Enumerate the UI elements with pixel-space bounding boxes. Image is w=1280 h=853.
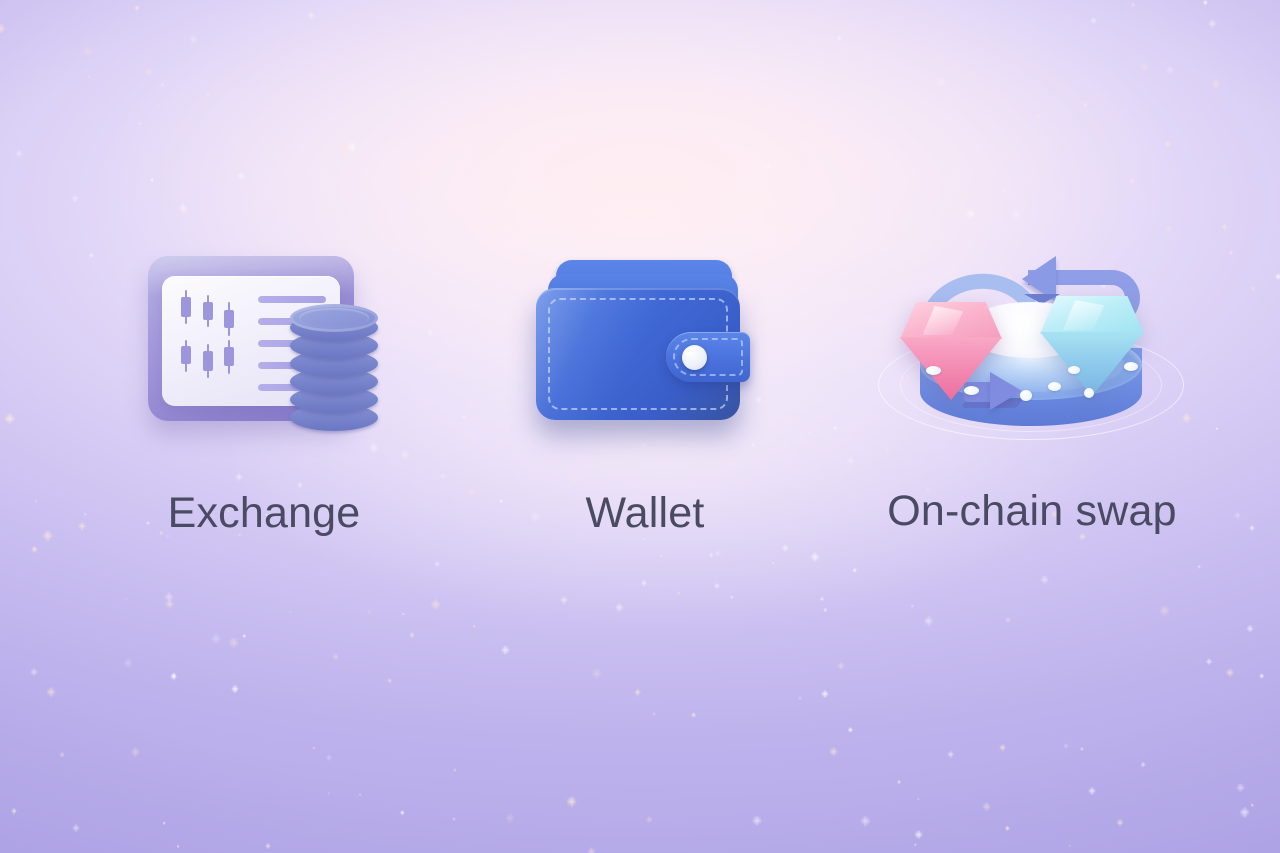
- item-label-wallet: Wallet: [585, 492, 704, 535]
- wallet-clasp-button: [682, 345, 707, 370]
- item-label-on-chain-swap: On-chain swap: [887, 490, 1176, 533]
- swap-gem-cyan: [1040, 296, 1144, 396]
- swap-gem-pink: [900, 302, 1002, 400]
- exchange-coin-stack: [290, 304, 382, 432]
- wallet-icon: [520, 244, 770, 444]
- scene: Exchange Wallet: [0, 0, 1280, 853]
- items-row: Exchange Wallet: [0, 0, 1280, 853]
- item-on-chain-swap[interactable]: On-chain swap: [872, 238, 1192, 533]
- swap-gems-icon: [872, 238, 1192, 448]
- wallet-clasp: [666, 332, 750, 382]
- item-label-exchange: Exchange: [168, 492, 361, 535]
- item-wallet[interactable]: Wallet: [520, 244, 770, 535]
- item-exchange[interactable]: Exchange: [134, 244, 394, 535]
- exchange-chart-coins-icon: [134, 244, 394, 444]
